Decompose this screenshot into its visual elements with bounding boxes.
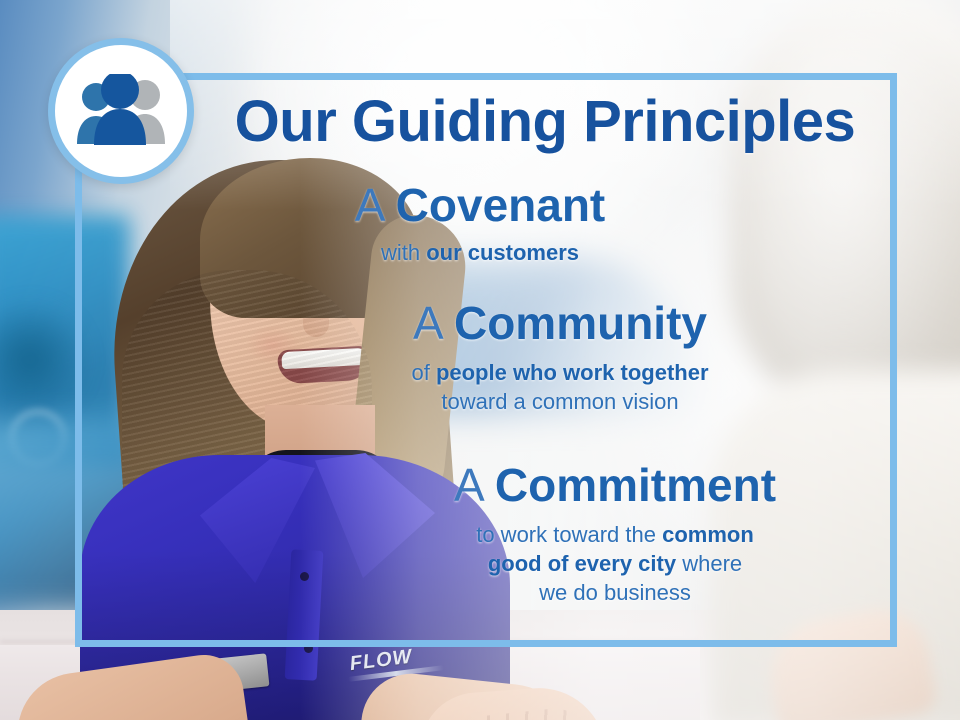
subtext-line: we do business [350,578,880,607]
subtext-line: with our customers [240,238,720,267]
page-title: Our Guiding Principles [215,93,875,151]
people-group-icon [48,38,194,184]
principle-word: Community [454,297,707,349]
principle-block-covenant: A Covenant with our customers [240,182,720,267]
principle-block-commitment: A Commitment to work toward the common g… [350,462,880,607]
principle-article: A [355,179,383,231]
principle-article: A [454,459,482,511]
subtext-line: of people who work together [300,358,820,387]
principle-heading-commitment: A Commitment [350,462,880,510]
principle-subtext-community: of people who work together toward a com… [300,358,820,416]
principle-word: Commitment [495,459,776,511]
principle-subtext-commitment: to work toward the common good of every … [350,520,880,607]
principle-word: Covenant [396,179,606,231]
subtext-line: to work toward the common [350,520,880,549]
employee-shirt-placket [285,549,324,680]
employee-shirt-button-bottom [304,644,313,653]
principle-heading-community: A Community [300,300,820,348]
principle-block-community: A Community of people who work together … [300,300,820,416]
employee-shirt-button-top [300,572,309,581]
principle-subtext-covenant: with our customers [240,238,720,267]
subtext-line: toward a common vision [300,387,820,416]
principle-heading-covenant: A Covenant [240,182,720,230]
guiding-principles-graphic: FLOW AUTOMOTIVE FLOW [0,0,960,720]
principle-article: A [413,297,441,349]
subtext-line: good of every city where [350,549,880,578]
